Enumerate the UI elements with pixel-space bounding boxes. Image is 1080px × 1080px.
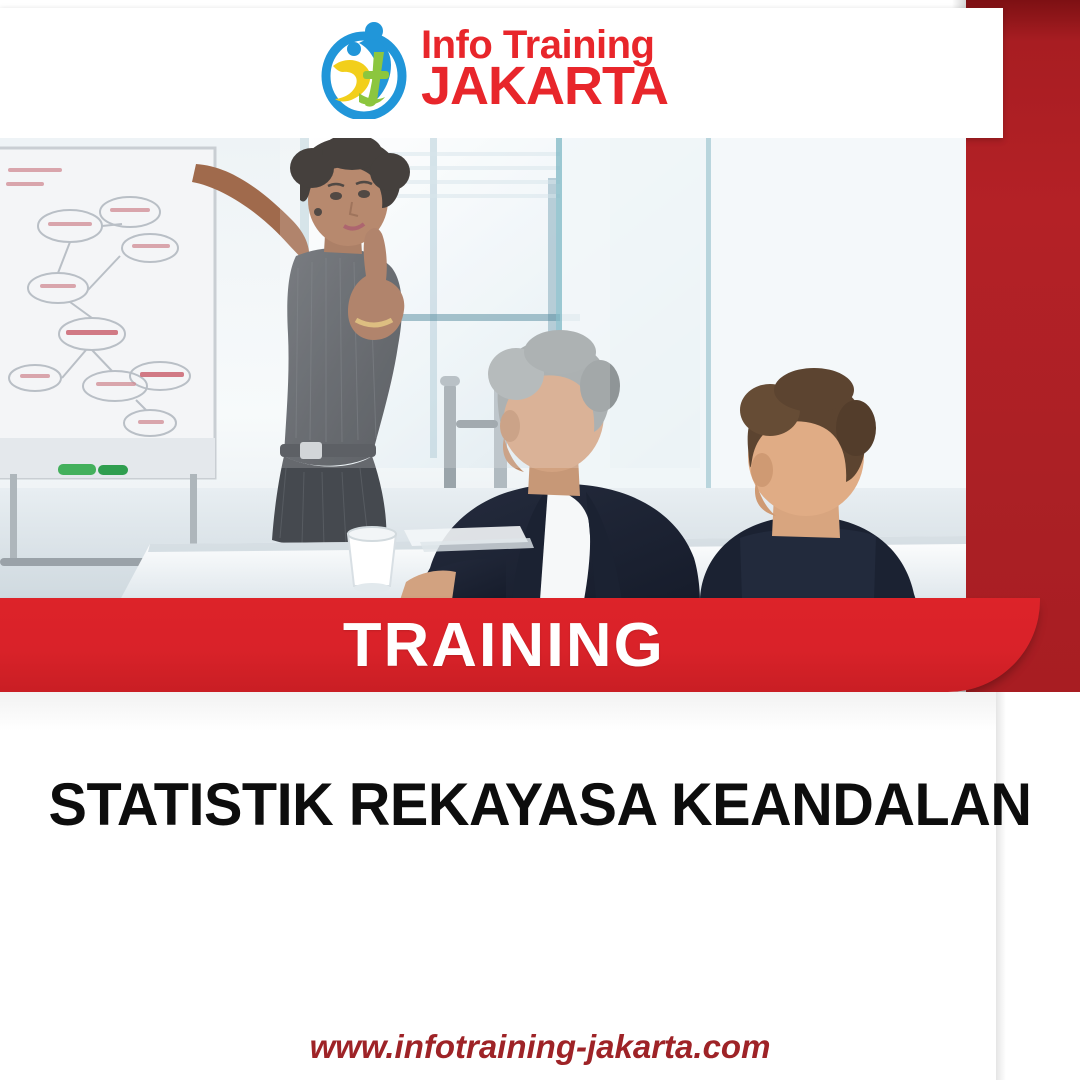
training-banner-label: TRAINING bbox=[343, 610, 665, 681]
poster-header: Info Training JAKARTA bbox=[0, 0, 1003, 138]
training-banner: TRAINING bbox=[0, 598, 1040, 692]
training-poster: Info Training JAKARTA bbox=[0, 0, 1080, 1080]
website-url[interactable]: www.infotraining-jakarta.com bbox=[0, 1028, 1080, 1066]
course-title: STATISTIK REKAYASA KEANDALAN bbox=[22, 770, 1059, 839]
brand-logo-text: Info Training JAKARTA bbox=[421, 27, 668, 111]
it-circle-logo-icon bbox=[319, 19, 415, 119]
hero-photo bbox=[0, 138, 966, 600]
brand-name-line2: JAKARTA bbox=[421, 62, 668, 112]
content-sheet bbox=[0, 692, 996, 1080]
content-sheet-edge bbox=[996, 692, 1006, 1080]
brand-logo[interactable]: Info Training JAKARTA bbox=[319, 19, 668, 119]
